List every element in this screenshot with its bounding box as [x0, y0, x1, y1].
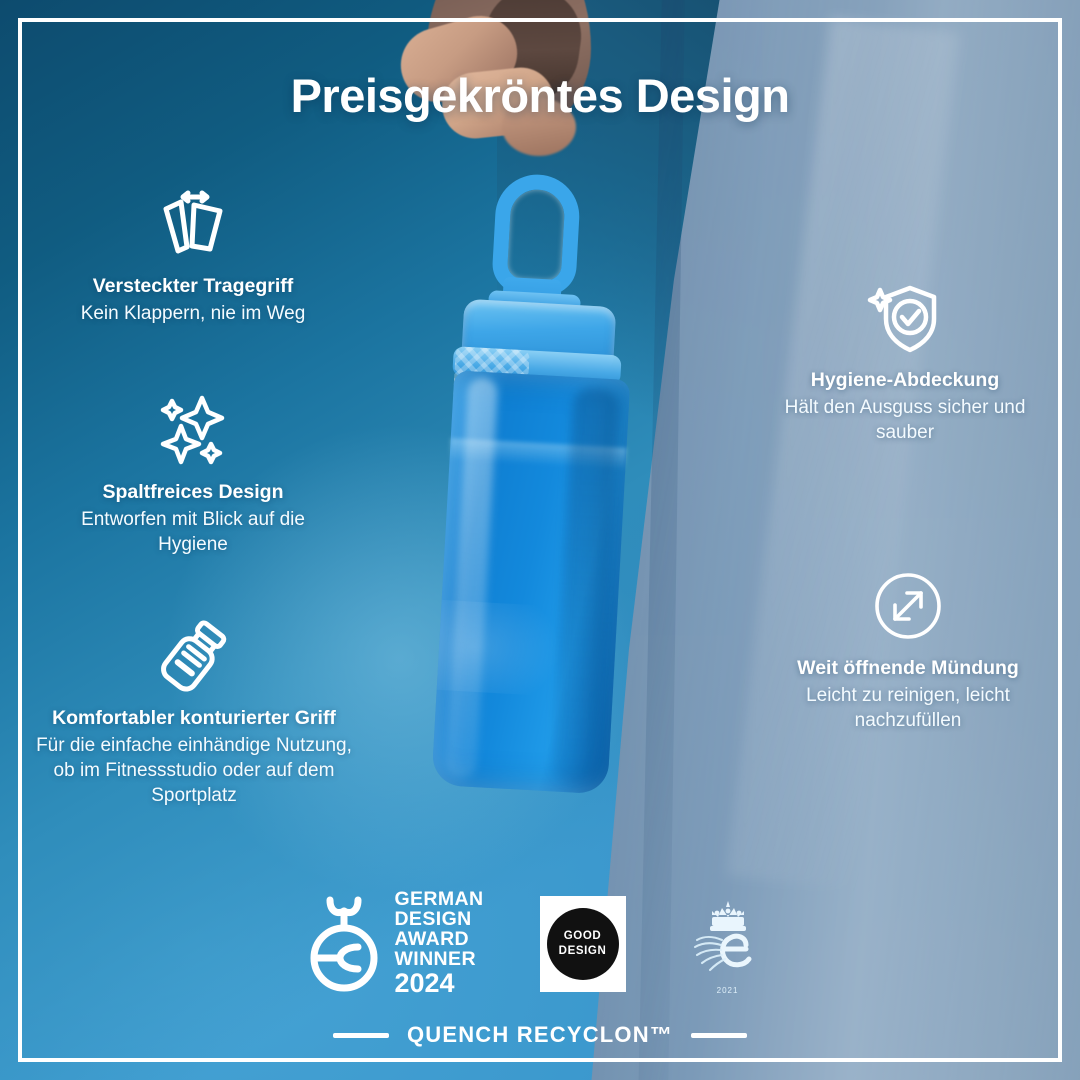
- footer-rule-right: [691, 1033, 747, 1038]
- footer-brand-bar: QUENCH RECYCLON™: [0, 1022, 1080, 1048]
- german-design-award-mark: [306, 895, 382, 993]
- gda-year: 2024: [394, 970, 483, 998]
- water-bottle-photo: [401, 169, 671, 811]
- feature-title: Versteckter Tragegriff: [48, 274, 338, 299]
- good-design-line-1: GOOD: [564, 929, 602, 944]
- feature-title: Spaltfreices Design: [48, 480, 338, 505]
- feature-title: Hygiene-Abdeckung: [760, 368, 1050, 393]
- queens-award-crown-emblem: [682, 895, 774, 987]
- feature-title: Komfortabler konturierter Griff: [30, 706, 358, 731]
- feature-body: Entworfen mit Blick auf die Hygiene: [48, 507, 338, 557]
- award-badges: GERMAN DESIGN AWARD WINNER 2024 GOOD DES…: [0, 888, 1080, 1000]
- sparkles-icon: [48, 392, 338, 468]
- feature-body: Kein Klappern, nie im Weg: [48, 301, 338, 326]
- brand-name: QUENCH RECYCLON™: [407, 1022, 673, 1048]
- feature-komfortabler-konturierter-griff: Komfortabler konturierter Griff Für die …: [30, 618, 358, 808]
- feature-weit-oeffnende-muendung: Weit öffnende Mündung Leicht zu reinigen…: [772, 568, 1044, 733]
- queens-award-year: 2021: [682, 986, 774, 995]
- good-design-circle: GOOD DESIGN: [547, 908, 619, 980]
- badge-good-design: GOOD DESIGN: [540, 896, 626, 992]
- feature-body: Für die einfache einhändige Nutzung, ob …: [30, 733, 358, 808]
- feature-title: Weit öffnende Mündung: [772, 656, 1044, 681]
- feature-hygiene-abdeckung: Hygiene-Abdeckung Hält den Ausguss siche…: [760, 280, 1050, 445]
- page-title: Preisgekröntes Design: [0, 68, 1080, 123]
- feature-spaltfreices-design: Spaltfreices Design Entworfen mit Blick …: [48, 392, 338, 557]
- feature-body: Leicht zu reinigen, leicht nachzufüllen: [772, 683, 1044, 733]
- product-infographic: Preisgekröntes Design Versteckter Trageg…: [0, 0, 1080, 1080]
- good-design-line-2: DESIGN: [559, 944, 607, 959]
- footer-rule-left: [333, 1033, 389, 1038]
- badge-german-design-award: GERMAN DESIGN AWARD WINNER 2024: [306, 890, 483, 997]
- carry-handle-icon: [48, 186, 338, 262]
- gda-line-4: WINNER: [394, 950, 483, 970]
- feature-versteckter-tragegriff: Versteckter Tragegriff Kein Klappern, ni…: [48, 186, 338, 326]
- bottle-contour-grip: [437, 600, 618, 700]
- expand-arrows-icon: [772, 568, 1044, 644]
- badge-queens-award: 2021: [682, 895, 774, 993]
- german-design-award-text: GERMAN DESIGN AWARD WINNER 2024: [394, 890, 483, 997]
- contoured-bottle-icon: [30, 618, 358, 694]
- feature-body: Hält den Ausguss sicher und sauber: [760, 395, 1050, 445]
- shield-check-icon: [760, 280, 1050, 356]
